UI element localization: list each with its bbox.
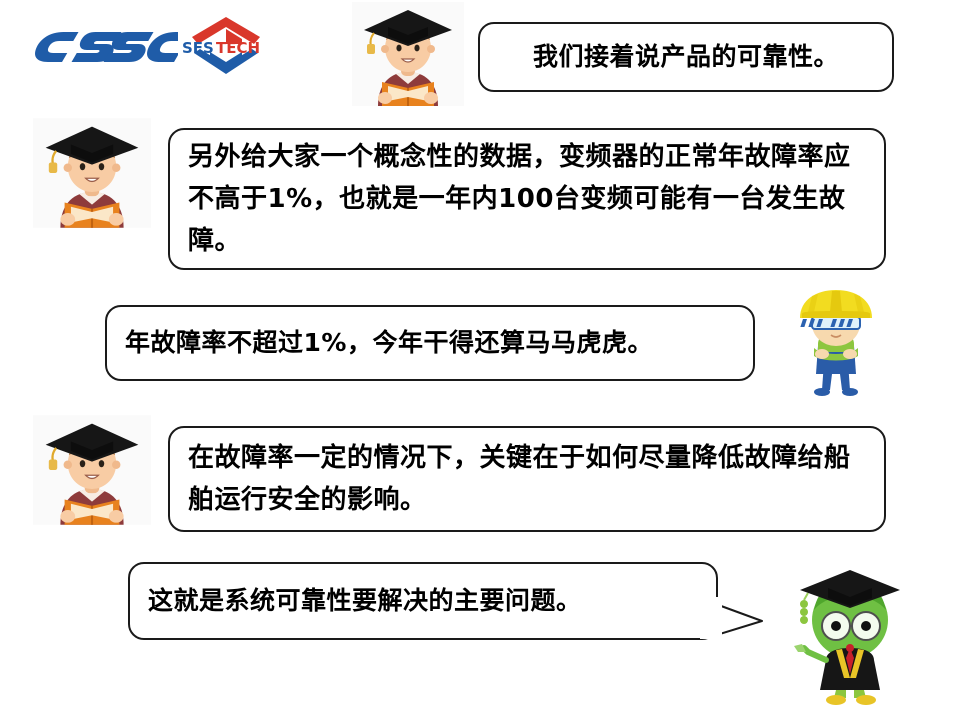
svg-text:SES: SES [182,39,214,57]
speech-bubble-4: 在故障率一定的情况下，关键在于如何尽量降低故障给船舶运行安全的影响。 [168,426,886,532]
cssc-logo [28,22,178,70]
speech-bubble-3-text: 年故障率不超过1%，今年干得还算马马虎虎。 [125,323,653,364]
avatar-worker [788,282,884,396]
avatar-graduate-1 [352,2,464,106]
speech-bubble-5-text: 这就是系统可靠性要解决的主要问题。 [148,581,582,622]
avatar-graduate-2 [33,118,151,228]
speech-bubble-4-text: 在故障率一定的情况下，关键在于如何尽量降低故障给船舶运行安全的影响。 [188,437,866,521]
svg-text:TECH: TECH [216,39,260,57]
speech-bubble-1-text: 我们接着说产品的可靠性。 [533,37,839,78]
avatar-graduate-3 [33,414,151,526]
speech-bubble-5: 这就是系统可靠性要解决的主要问题。 [128,562,718,640]
avatar-green-professor [778,556,918,706]
slide-canvas: SES TECH [0,0,960,720]
speech-bubble-2-text: 另外给大家一个概念性的数据，变频器的正常年故障率应不高于1%，也就是一年内100… [188,136,866,262]
speech-bubble-3: 年故障率不超过1%，今年干得还算马马虎虎。 [105,305,755,381]
speech-bubble-2: 另外给大家一个概念性的数据，变频器的正常年故障率应不高于1%，也就是一年内100… [168,128,886,270]
speech-bubble-1: 我们接着说产品的可靠性。 [478,22,894,92]
sestech-logo: SES TECH [180,12,272,78]
